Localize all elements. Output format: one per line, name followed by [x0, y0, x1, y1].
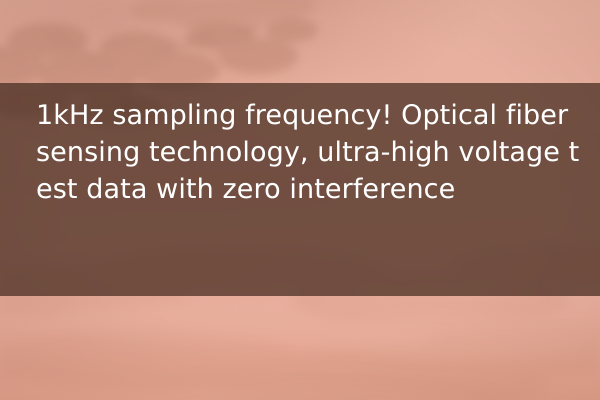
headline-text: 1kHz sampling frequency! Optical fiber s…: [36, 97, 581, 208]
banner-image: 1kHz sampling frequency! Optical fiber s…: [0, 0, 600, 400]
